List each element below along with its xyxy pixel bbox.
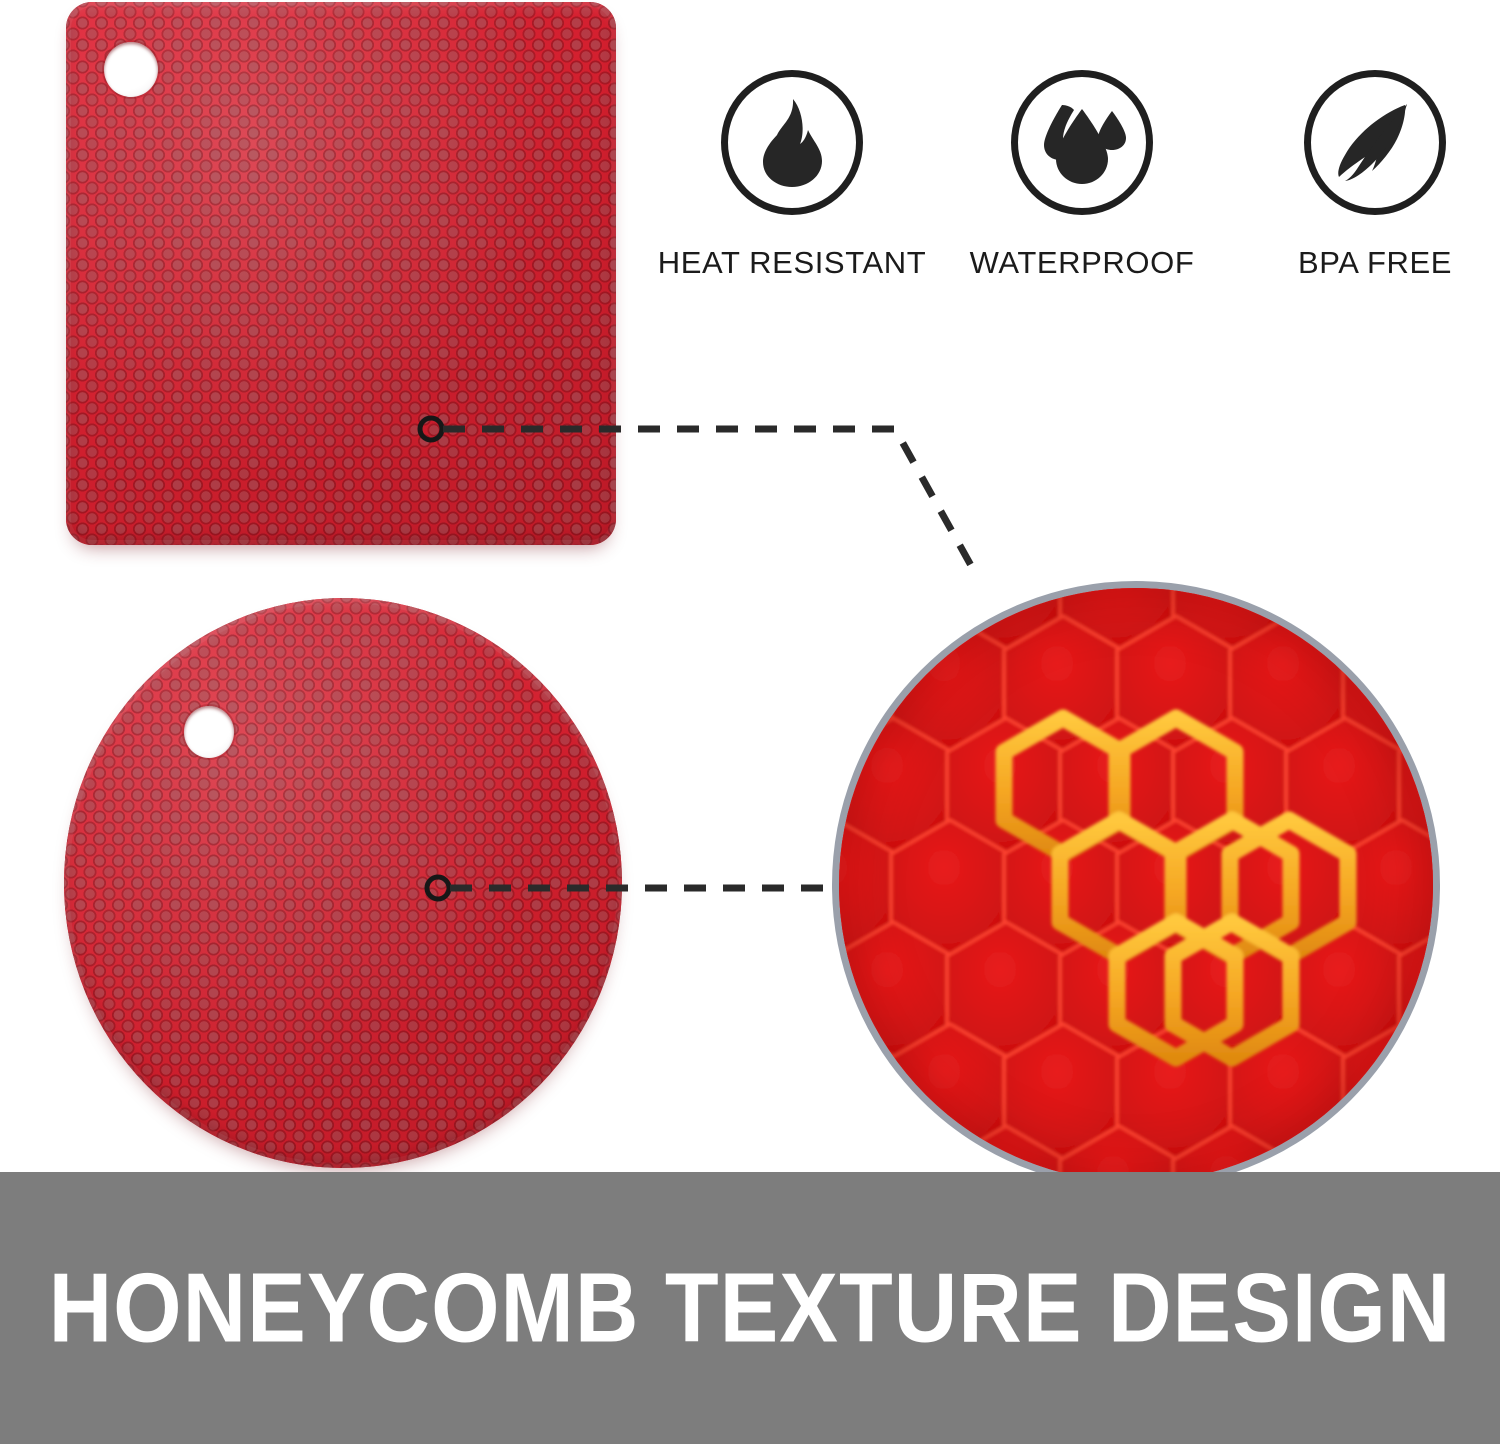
- feature-heat-resistant: HEAT RESISTANT: [642, 70, 942, 281]
- feature-label: BPA FREE: [1225, 245, 1500, 281]
- flame-icon: [753, 97, 831, 189]
- water-drop-icon: [1036, 99, 1128, 187]
- badge-ring: [1011, 70, 1153, 215]
- feature-label: HEAT RESISTANT: [642, 245, 942, 281]
- round-trivet: [64, 598, 622, 1168]
- feature-badges: HEAT RESISTANT WATERPROOF BPA FREE: [640, 70, 1490, 300]
- square-trivet: [66, 2, 616, 545]
- hanging-hole: [184, 706, 234, 758]
- feature-label: WATERPROOF: [932, 245, 1232, 281]
- feature-waterproof: WATERPROOF: [932, 70, 1232, 281]
- honeycomb-closeup-magnifier: [832, 581, 1440, 1189]
- product-infographic: HEAT RESISTANT WATERPROOF BPA FREE: [0, 0, 1500, 1444]
- feature-bpa-free: BPA FREE: [1225, 70, 1500, 281]
- banner-headline: HONEYCOMB TEXTURE DESIGN: [49, 1251, 1452, 1365]
- hanging-hole: [104, 42, 158, 97]
- magnifier-vignette: [839, 588, 1433, 1182]
- badge-ring: [1304, 70, 1446, 215]
- leaf-icon: [1331, 99, 1419, 187]
- bottom-banner: HONEYCOMB TEXTURE DESIGN: [0, 1172, 1500, 1444]
- trivet-edge-shading: [64, 598, 622, 1168]
- badge-ring: [721, 70, 863, 215]
